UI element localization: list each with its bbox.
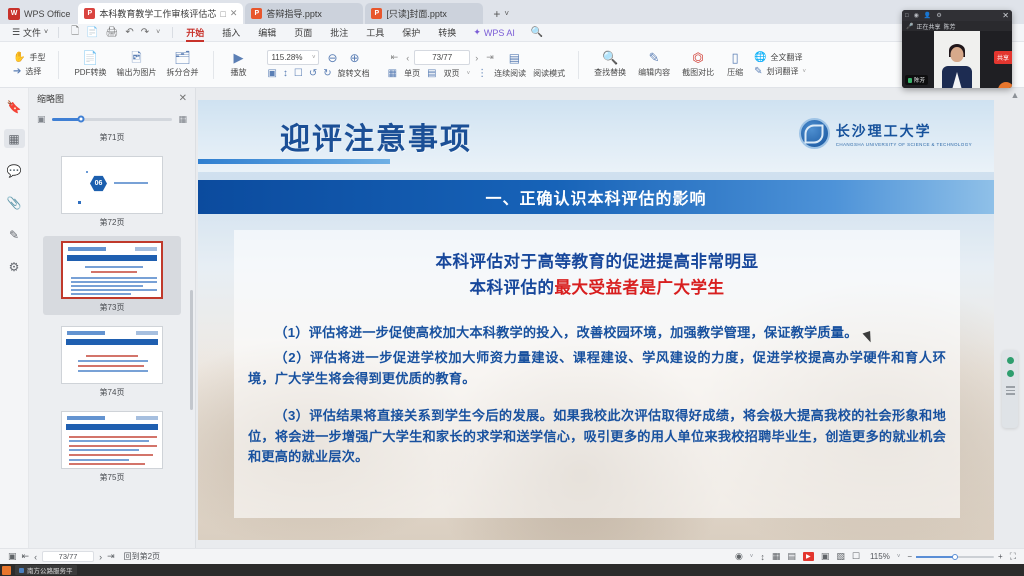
find-replace-button[interactable]: 🔍 查找替换 bbox=[588, 51, 632, 78]
tab-label: 本科教育教学工作审核评估芯 bbox=[99, 7, 216, 20]
compare-button[interactable]: ⏣ 截图对比 bbox=[676, 51, 720, 78]
application-window: W WPS Office P 本科教育教学工作审核评估芯 □ ✕ P 答辩指导.… bbox=[0, 0, 1024, 576]
chevron-down-icon[interactable]: ˅ bbox=[750, 554, 754, 560]
chevron-down-icon[interactable]: ˅ bbox=[504, 9, 509, 18]
people-icon[interactable]: 👤 bbox=[924, 12, 931, 19]
pdf-convert-label: PDF转换 bbox=[74, 67, 106, 78]
university-logo: 长沙理工大学 CHANGSHA UNIVERSITY OF SCIENCE & … bbox=[799, 118, 972, 149]
list-item[interactable]: 第75页 bbox=[43, 406, 181, 485]
mini-header-bar bbox=[66, 339, 158, 345]
mini-dot bbox=[86, 171, 88, 173]
zoom-level-value: 115.28% bbox=[271, 53, 302, 62]
thumb-small-icon[interactable]: ▣ bbox=[37, 114, 46, 125]
mini-title bbox=[67, 416, 105, 420]
restore-icon[interactable]: □ bbox=[220, 9, 225, 19]
last-page-icon[interactable]: ⇥ bbox=[107, 551, 115, 562]
thumbnail-label: 第75页 bbox=[100, 472, 125, 483]
tab-protect[interactable]: 保护 bbox=[393, 24, 429, 42]
thumbnail-label: 第71页 bbox=[100, 132, 125, 143]
mini-caption-line bbox=[114, 182, 148, 184]
mic-icon: 🎤 bbox=[906, 23, 913, 30]
toolbar-group-tools: 🔍 查找替换 ✎ 编辑内容 ⏣ 截图对比 ▯ 压缩 🌐 全文翻译 bbox=[583, 43, 815, 87]
zoom-out-button[interactable]: − bbox=[907, 552, 912, 561]
edit-icon: ✎ bbox=[649, 51, 660, 65]
wps-ai-label: WPS AI bbox=[484, 28, 515, 38]
toolbar: ✋ 手型 ➔ 选择 📄 PDF转换 🖻 输出为图片 🗂 拆分合并 bbox=[0, 42, 1024, 88]
thumbnail-panel-header: 缩略图 ✕ bbox=[29, 88, 195, 108]
tab-convert[interactable]: 转换 bbox=[429, 24, 465, 42]
list-item[interactable]: 第74页 bbox=[43, 321, 181, 400]
last-page-icon[interactable]: ⇥ bbox=[483, 52, 497, 63]
toolbar-group-convert: 📄 PDF转换 🖻 输出为图片 🗂 拆分合并 bbox=[63, 43, 209, 87]
play-button[interactable]: ▶ 播放 bbox=[223, 51, 253, 78]
participant-name-label: 陈芳 bbox=[914, 76, 925, 84]
redo-icon[interactable]: ↷ bbox=[141, 27, 149, 38]
prev-page-icon[interactable]: ‹ bbox=[34, 552, 37, 562]
split-merge-button[interactable]: 🗂 拆分合并 bbox=[160, 51, 204, 78]
divider bbox=[58, 51, 59, 79]
mini-line bbox=[91, 271, 137, 273]
mini-line bbox=[85, 266, 143, 268]
presenter-name: 陈芳 bbox=[944, 22, 956, 31]
wps-ai-button[interactable]: ✦ WPS AI bbox=[465, 27, 523, 38]
divider bbox=[213, 51, 214, 79]
compress-button[interactable]: ▯ 压缩 bbox=[720, 51, 750, 78]
select-tool-button[interactable]: ➔ 选择 bbox=[13, 66, 45, 77]
mini-header-bar bbox=[66, 424, 158, 430]
back-to-page-link[interactable]: 回到第2页 bbox=[124, 551, 160, 562]
mini-dot bbox=[78, 201, 81, 204]
translate-word-icon: ✎ bbox=[754, 66, 762, 77]
toolbar-group-pointer: ✋ 手型 ➔ 选择 bbox=[4, 43, 54, 87]
file-menu-button[interactable]: ☰ 文件 ˅ bbox=[6, 26, 54, 39]
app-icon bbox=[19, 568, 24, 573]
ai-sparkle-icon: ✦ bbox=[473, 27, 481, 38]
share-status-label: 正在共享 bbox=[916, 22, 940, 31]
tab-comment[interactable]: 批注 bbox=[321, 24, 357, 42]
bookmark-icon[interactable]: 🔖 bbox=[4, 97, 25, 116]
comment-icon[interactable]: 💬 bbox=[4, 161, 25, 180]
floating-action-bubble[interactable] bbox=[998, 82, 1012, 88]
compress-label: 压缩 bbox=[727, 67, 743, 78]
body-paragraph-1: （1）评估将进一步促使高校加大本科教学的投入，改善校园环境，加强教学管理，保证教… bbox=[234, 323, 960, 344]
tab-bar: W WPS Office P 本科教育教学工作审核评估芯 □ ✕ P 答辩指导.… bbox=[0, 0, 1024, 24]
list-item[interactable]: 06 第72页 bbox=[43, 151, 181, 230]
search-icon: 🔍 bbox=[602, 51, 618, 65]
single-page-icon[interactable]: ▦ bbox=[388, 68, 397, 79]
compare-label: 截图对比 bbox=[682, 67, 714, 78]
compress-icon: ▯ bbox=[732, 51, 739, 65]
thumbnail-scrollbar[interactable] bbox=[190, 290, 193, 410]
mini-line bbox=[71, 281, 157, 283]
document-viewport[interactable]: ▲ 迎评注意事项 长沙理工大学 CHANGSHA UNIVERSITY OF S… bbox=[196, 88, 1024, 548]
mini-line bbox=[78, 360, 148, 362]
view-mode-icon[interactable]: ◉ bbox=[735, 551, 743, 562]
play-label: 播放 bbox=[230, 67, 246, 78]
panel-toggle-icon[interactable]: ▣ bbox=[8, 551, 17, 562]
slide-content-card: 本科评估对于高等教育的促进提高非常明显 本科评估的最大受益者是广大学生 （1）评… bbox=[234, 230, 960, 518]
continuous-read-label[interactable]: 连续阅读 bbox=[494, 68, 526, 79]
divider bbox=[578, 51, 579, 79]
settings-icon[interactable]: ⚙ bbox=[936, 12, 941, 19]
status-zoom-value[interactable]: 115% bbox=[870, 552, 890, 561]
select-tool-label: 选择 bbox=[25, 66, 41, 77]
hand-icon: ✋ bbox=[13, 52, 25, 63]
thumbnail-image[interactable] bbox=[61, 241, 163, 299]
mini-logo bbox=[136, 416, 158, 420]
mini-line bbox=[71, 293, 131, 295]
status-page-value: 73/77 bbox=[59, 552, 78, 561]
plus-icon[interactable]: + bbox=[493, 7, 500, 21]
settings-icon[interactable]: ⚙ bbox=[4, 257, 25, 276]
video-conference-window[interactable]: □ ◉ 👤 ⚙ ✕ 🎤 正在共享 陈芳 陈芳 共享 bbox=[902, 10, 1012, 88]
cursor-icon: ➔ bbox=[13, 66, 21, 77]
double-page-label[interactable]: 双页 bbox=[444, 68, 460, 79]
split-merge-icon: 🗂 bbox=[174, 51, 191, 65]
university-name-cn: 长沙理工大学 bbox=[836, 121, 972, 141]
chevron-down-icon[interactable]: ˅ bbox=[897, 554, 901, 560]
tab-label: [只读]封面.pptx bbox=[386, 7, 477, 20]
body-paragraph-2: （2）评估将进一步促进学校加大师资力量建设、课程建设、学风建设的力度，促进学校提… bbox=[234, 348, 960, 390]
edit-content-button[interactable]: ✎ 编辑内容 bbox=[632, 51, 676, 78]
lead-line-2-highlight: 最大受益者是广大学生 bbox=[555, 279, 725, 297]
mini-line bbox=[71, 285, 143, 287]
reflow-icon[interactable]: ☐ bbox=[852, 551, 860, 562]
split-merge-label: 拆分合并 bbox=[166, 67, 198, 78]
close-icon[interactable]: ✕ bbox=[1002, 11, 1009, 20]
video-window-controls: □ ◉ 👤 ⚙ bbox=[905, 12, 942, 19]
mini-line bbox=[69, 463, 145, 465]
zoom-slider-track[interactable] bbox=[916, 556, 994, 558]
body-paragraph-3: （3）评估结果将直接关系到学生今后的发展。如果我校此次评估取得好成绩，将会极大提… bbox=[234, 406, 960, 469]
divider bbox=[172, 27, 173, 38]
single-page-label[interactable]: 单页 bbox=[404, 68, 420, 79]
continuous-read-icon[interactable]: ⋮ bbox=[477, 68, 487, 79]
mini-line bbox=[69, 440, 149, 442]
ppt-file-icon: P bbox=[371, 8, 382, 19]
first-page-icon[interactable]: ⇤ bbox=[22, 551, 30, 562]
thumbnail-label: 第72页 bbox=[100, 217, 125, 228]
chevron-down-icon[interactable]: ˅ bbox=[312, 55, 316, 61]
thumbnail-size-slider[interactable]: ▣ ▦ bbox=[29, 108, 195, 130]
taskbar-item-label: 南方公路服务平 bbox=[27, 565, 73, 575]
export-image-label: 输出为图片 bbox=[116, 67, 156, 78]
title-underline bbox=[198, 159, 390, 164]
status-page-input[interactable]: 73/77 bbox=[42, 551, 94, 562]
camera-icon[interactable]: ◉ bbox=[914, 12, 919, 19]
lead-line-1: 本科评估对于高等教育的促进提高非常明显 bbox=[234, 250, 960, 276]
thumbnail-list[interactable]: 第71页 06 第72页 bbox=[29, 130, 195, 548]
video-window-titlebar[interactable]: □ ◉ 👤 ⚙ ✕ bbox=[902, 10, 1012, 21]
hand-tool-label: 手型 bbox=[29, 52, 45, 63]
mini-logo bbox=[136, 331, 158, 335]
thumbnail-image[interactable] bbox=[61, 411, 163, 469]
double-page-view-icon[interactable]: ▤ bbox=[787, 551, 796, 562]
zoom-slider[interactable]: − + bbox=[907, 552, 1002, 561]
minimize-icon[interactable]: □ bbox=[905, 13, 909, 19]
chevron-down-icon[interactable]: ˅ bbox=[156, 29, 160, 36]
mini-line bbox=[69, 436, 157, 438]
slide-canvas: 迎评注意事项 长沙理工大学 CHANGSHA UNIVERSITY OF SCI… bbox=[198, 100, 994, 540]
translate-word-label: 划词翻译 bbox=[766, 66, 798, 77]
quick-access-toolbar: 🗋 📄 🖨 ↶ ↷ ˅ bbox=[63, 24, 168, 41]
taskbar-item[interactable]: 南方公路服务平 bbox=[15, 565, 77, 575]
participant-name-chip: 陈芳 bbox=[905, 75, 928, 85]
mini-line bbox=[69, 449, 139, 451]
translate-icon: 🌐 bbox=[754, 52, 766, 63]
mini-title bbox=[68, 247, 106, 251]
thumbnail-panel: 缩略图 ✕ ▣ ▦ 第71页 06 bbox=[29, 88, 196, 548]
tab-page[interactable]: 页面 bbox=[285, 24, 321, 42]
lead-line-2: 本科评估的最大受益者是广大学生 bbox=[234, 276, 960, 302]
first-page-icon[interactable]: ⇤ bbox=[388, 52, 402, 63]
zoom-in-button[interactable]: + bbox=[998, 552, 1003, 561]
attachment-icon[interactable]: 📎 bbox=[4, 193, 25, 212]
university-name-en: CHANGSHA UNIVERSITY OF SCIENCE & TECHNOL… bbox=[836, 142, 972, 147]
facing-pages-icon[interactable]: ▤ bbox=[505, 51, 524, 65]
mini-line bbox=[71, 289, 157, 291]
thumbnail-icon[interactable]: ▦ bbox=[4, 129, 25, 148]
divider bbox=[58, 27, 59, 38]
hex-number-badge: 06 bbox=[90, 175, 107, 192]
signature-icon[interactable]: ✎ bbox=[4, 225, 25, 244]
export-image-button[interactable]: 🖻 输出为图片 bbox=[112, 51, 160, 78]
rotate-document-label[interactable]: 旋转文档 bbox=[338, 68, 370, 79]
fullscreen-icon[interactable]: ⛶ bbox=[1010, 551, 1016, 562]
page-number-input[interactable]: 73/77 bbox=[414, 50, 470, 65]
thumbnail-image[interactable] bbox=[61, 326, 163, 384]
fit-page-view-icon[interactable]: ▣ bbox=[821, 551, 830, 562]
share-badge[interactable]: 共享 bbox=[994, 51, 1012, 64]
open-icon[interactable]: 📄 bbox=[86, 27, 98, 38]
translate-full-button[interactable]: 🌐 全文翻译 bbox=[754, 52, 806, 63]
start-icon[interactable] bbox=[2, 566, 11, 575]
fit-width-icon[interactable]: ↕ bbox=[760, 552, 765, 562]
section-heading: 一、正确认识本科评估的影响 bbox=[485, 185, 706, 209]
mini-line bbox=[78, 370, 148, 372]
lead-line-2-prefix: 本科评估的 bbox=[470, 279, 555, 297]
zoom-in-icon[interactable]: ⊕ bbox=[346, 51, 364, 65]
toolbar-group-zoom: 115.28% ˅ ⊖ ⊕ ▣ ↕ ☐ ↺ ↻ 旋转文档 bbox=[258, 43, 378, 87]
os-taskbar: 南方公路服务平 bbox=[0, 564, 1024, 576]
translate-full-label: 全文翻译 bbox=[771, 52, 803, 63]
video-feed-area[interactable]: 陈芳 共享 bbox=[902, 31, 1012, 88]
read-mode-label[interactable]: 阅读模式 bbox=[533, 68, 565, 79]
zoom-level-input[interactable]: 115.28% ˅ bbox=[267, 50, 319, 65]
mic-active-icon bbox=[908, 78, 912, 83]
flow-view-icon[interactable]: ▧ bbox=[836, 551, 845, 562]
compare-icon: ⏣ bbox=[692, 51, 703, 65]
fit-page-icon[interactable]: ▣ bbox=[267, 68, 276, 79]
mini-line bbox=[69, 445, 157, 447]
mini-logo bbox=[135, 247, 157, 251]
share-status-bar: 🎤 正在共享 陈芳 bbox=[902, 21, 1012, 31]
avatar bbox=[951, 47, 964, 62]
zoom-slider-handle[interactable] bbox=[952, 554, 958, 560]
new-tab-control[interactable]: + ˅ bbox=[485, 3, 517, 24]
undo-icon[interactable]: ↶ bbox=[125, 27, 133, 38]
thumbnail-label: 第74页 bbox=[100, 387, 125, 398]
double-page-icon[interactable]: ▤ bbox=[427, 68, 436, 79]
scroll-up-icon[interactable]: ▲ bbox=[1010, 90, 1020, 100]
ppt-file-icon: P bbox=[251, 8, 262, 19]
tab-document-1[interactable]: P 本科教育教学工作审核评估芯 □ ✕ bbox=[78, 3, 243, 24]
slideshow-icon[interactable]: ▶ bbox=[803, 552, 814, 561]
search-icon[interactable]: 🔍 bbox=[523, 27, 551, 38]
mini-line bbox=[86, 355, 138, 357]
mini-header-bar bbox=[67, 255, 157, 261]
zoom-slider-fill bbox=[916, 556, 955, 558]
zoom-out-icon[interactable]: ⊖ bbox=[323, 51, 341, 65]
close-icon[interactable]: ✕ bbox=[179, 93, 187, 104]
mini-title bbox=[67, 331, 105, 335]
play-icon: ▶ bbox=[233, 51, 243, 65]
pdf-file-icon: P bbox=[84, 8, 95, 19]
ribbon-tabs: 开始 插入 编辑 页面 批注 工具 保护 转换 bbox=[177, 24, 465, 42]
single-page-view-icon[interactable]: ▦ bbox=[772, 551, 781, 562]
tab-label: 答辩指导.pptx bbox=[266, 7, 357, 20]
wps-logo-icon: W bbox=[8, 8, 20, 20]
tab-edit[interactable]: 编辑 bbox=[249, 24, 285, 42]
new-icon[interactable]: 🗋 bbox=[71, 24, 79, 41]
next-page-icon[interactable]: › bbox=[99, 552, 102, 562]
mini-line bbox=[69, 459, 129, 461]
fit-height-icon[interactable]: ↕ bbox=[283, 68, 288, 79]
rotate-right-icon[interactable]: ↻ bbox=[323, 68, 331, 79]
chevron-down-icon: ˅ bbox=[44, 29, 48, 36]
next-page-icon[interactable]: › bbox=[472, 53, 481, 63]
mini-line bbox=[78, 365, 144, 367]
rotate-left-icon[interactable]: ↺ bbox=[309, 68, 317, 79]
university-emblem-icon bbox=[799, 118, 830, 149]
page-title: 迎评注意事项 bbox=[280, 114, 472, 158]
menu-bar: ☰ 文件 ˅ 🗋 📄 🖨 ↶ ↷ ˅ 开始 插入 编辑 页面 批注 工具 保护 … bbox=[0, 24, 1024, 42]
find-replace-label: 查找替换 bbox=[594, 67, 626, 78]
toolbar-group-play: ▶ 播放 bbox=[218, 43, 258, 87]
thumb-large-icon[interactable]: ▦ bbox=[178, 114, 187, 125]
toolbar-group-navigate: ⇤ ‹ 73/77 › ⇥ ▤ ▦ 单页 ▤ 双页 ˅ ⋮ 连续阅读 bbox=[379, 43, 574, 87]
status-dot-icon bbox=[1007, 370, 1014, 377]
file-menu-label: 文件 bbox=[23, 26, 41, 39]
tab-start[interactable]: 开始 bbox=[177, 24, 213, 42]
mini-line bbox=[71, 277, 157, 279]
tab-insert[interactable]: 插入 bbox=[213, 24, 249, 42]
status-bar-left: ▣ ⇤ ‹ 73/77 › ⇥ 回到第2页 bbox=[0, 551, 160, 562]
brand-label: WPS Office bbox=[24, 9, 70, 19]
thumbnail-image[interactable]: 06 bbox=[61, 156, 163, 214]
list-item[interactable]: 第71页 bbox=[43, 132, 181, 145]
fit-width-icon[interactable]: ☐ bbox=[294, 68, 303, 79]
pdf-convert-icon: 📄 bbox=[82, 51, 98, 65]
participant-video[interactable] bbox=[934, 31, 980, 88]
tab-tools[interactable]: 工具 bbox=[357, 24, 393, 42]
chevron-down-icon[interactable]: ˅ bbox=[467, 71, 471, 77]
close-icon[interactable]: ✕ bbox=[230, 8, 238, 19]
chevron-down-icon[interactable]: ˅ bbox=[802, 69, 806, 75]
status-dot-icon bbox=[1007, 357, 1014, 364]
translate-word-button[interactable]: ✎ 划词翻译 ˅ bbox=[754, 66, 806, 77]
left-icon-rail: 🔖 ▦ 💬 📎 ✎ ⚙ bbox=[0, 88, 29, 548]
slider-track[interactable] bbox=[52, 118, 173, 121]
thumbnail-label: 第73页 bbox=[100, 302, 125, 313]
status-bar: ▣ ⇤ ‹ 73/77 › ⇥ 回到第2页 ◉ ˅ ↕ ▦ ▤ ▶ ▣ ▧ ☐ … bbox=[0, 548, 1024, 564]
section-heading-bar: 一、正确认识本科评估的影响 bbox=[198, 180, 994, 214]
list-item-current[interactable]: 第73页 bbox=[43, 236, 181, 315]
prev-page-icon[interactable]: ‹ bbox=[403, 53, 412, 63]
hand-tool-button[interactable]: ✋ 手型 bbox=[13, 52, 45, 63]
wps-office-brand[interactable]: W WPS Office bbox=[4, 4, 78, 24]
status-bar-right: ◉ ˅ ↕ ▦ ▤ ▶ ▣ ▧ ☐ 115% ˅ − + ⛶ bbox=[735, 551, 1024, 562]
export-image-icon: 🖻 bbox=[131, 51, 141, 65]
thumbnail-panel-title: 缩略图 bbox=[37, 92, 64, 105]
drag-handle-icon[interactable] bbox=[1006, 386, 1015, 395]
tab-document-3[interactable]: P [只读]封面.pptx bbox=[365, 3, 483, 24]
hamburger-icon: ☰ bbox=[12, 27, 20, 38]
tab-document-2[interactable]: P 答辩指导.pptx bbox=[245, 3, 363, 24]
slider-handle[interactable] bbox=[77, 116, 84, 123]
floating-toolbar[interactable] bbox=[1002, 350, 1018, 428]
pdf-convert-button[interactable]: 📄 PDF转换 bbox=[68, 51, 112, 78]
edit-content-label: 编辑内容 bbox=[638, 67, 670, 78]
mini-line bbox=[69, 454, 153, 456]
print-icon[interactable]: 🖨 bbox=[106, 27, 119, 38]
page-number-value: 73/77 bbox=[432, 53, 452, 62]
